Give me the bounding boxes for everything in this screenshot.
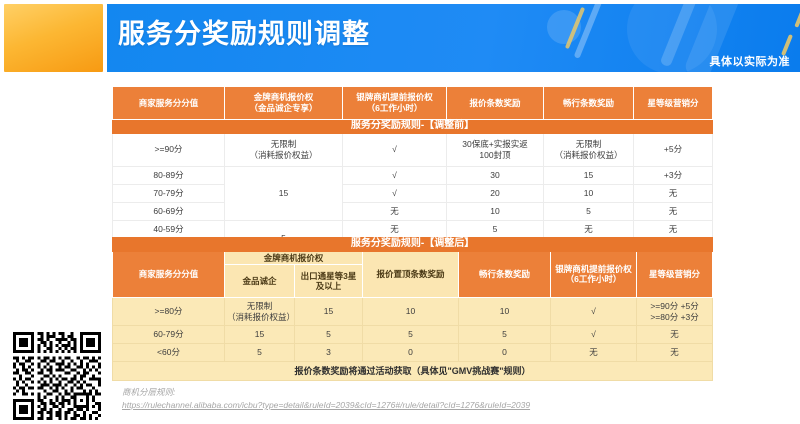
orange-accent-block [4,4,103,72]
cell-flow-bonus: 0 [459,344,551,362]
cell-star: 无 [637,344,713,362]
cell-gold-export-star: 15 [295,298,363,326]
qr-code-icon [13,332,101,420]
cell-quote: 30保底+实报实返 100封顶 [447,133,544,166]
cell-flow: 5 [544,202,634,220]
cell-top-bonus: 0 [363,344,459,362]
cell-score: 80-89分 [113,166,225,184]
col-header-silver-quote-line2: （6工作小时） [345,103,444,114]
cell-flow-bonus: 10 [459,298,551,326]
cell-star-line1: >=90分 +5分 [639,301,710,312]
cell-star: 无 [634,202,713,220]
cell-score: >=90分 [113,133,225,166]
cell-quote: 10 [447,202,544,220]
table-after-footnote-row: 报价条数奖励将通过活动获取（具体见"GMV挑战赛"规则） [113,362,713,381]
cell-silver: 无 [343,220,447,238]
cell-gold-jinpin: 5 [225,344,295,362]
cell-quote-line2: 100封顶 [449,150,541,161]
table-row: >=90分 无限制 （消耗报价权益） √ 30保底+实报实返 100封顶 无限制… [113,133,713,166]
cell-quote: 5 [447,220,544,238]
cell-star: 无 [634,220,713,238]
cell-flow: 无 [544,220,634,238]
col-header-gold-quote-line2: （金品诚企专享） [227,103,340,114]
table-before-header: 商家服务分分值 金牌商机报价权 （金品诚企专享） 银牌商机提前报价权 （6工作小… [113,87,713,120]
cell-quote: 20 [447,184,544,202]
col-header-gold-export-star: 出口通星等3星及以上 [295,265,363,298]
cell-silver: 无 [343,202,447,220]
rule-url-link[interactable]: https://rulechannel.alibaba.com/icbu?typ… [122,399,762,412]
cell-gold-export-star: 3 [295,344,363,362]
decor-slash-thin-icon [574,4,603,59]
cell-silver: √ [551,326,637,344]
table-after-title: 服务分奖励规则-【调整后】 [113,238,713,252]
cell-score: <60分 [113,344,225,362]
table-after-header-row1: 商家服务分分值 金牌商机报价权 报价置顶条数奖励 畅行条数奖励 银牌商机提前报价… [113,251,713,265]
cell-flow-line2: （消耗报价权益） [546,150,631,161]
col-header-gold-group: 金牌商机报价权 [225,251,363,265]
table-after-footnote: 报价条数奖励将通过活动获取（具体见"GMV挑战赛"规则） [113,362,713,381]
cell-quote: 30 [447,166,544,184]
cell-flow-line1: 无限制 [546,139,631,150]
col-header-gold-quote-line1: 金牌商机报价权 [227,92,340,103]
cell-star: 无 [637,326,713,344]
table-row: 40-59分 5 无 5 无 无 [113,220,713,238]
header-banner: 服务分奖励规则调整 具体以实际为准 [0,0,800,74]
cell-star: +3分 [634,166,713,184]
cell-star: 无 [634,184,713,202]
col-header-silver-quote-line1: 银牌商机提前报价权 [345,92,444,103]
table-after-body: >=80分 无限制 （消耗报价权益） 15 10 10 √ >=90分 +5分 … [113,298,713,362]
cell-gold-line1: 无限制 [227,139,340,150]
cell-gold-jinpin-line2: （消耗报价权益） [227,312,292,323]
table-row: 80-89分 15 √ 30 15 +3分 [113,166,713,184]
decor-gold-streak-1-icon [565,7,585,49]
col-header-silver-quote: 银牌商机提前报价权 （6工作小时） [343,87,447,120]
cell-score: 70-79分 [113,184,225,202]
col-header-flow-bonus: 畅行条数奖励 [459,251,551,298]
cell-silver: √ [343,184,447,202]
cell-score: 60-69分 [113,202,225,220]
col-header-silver-quote: 银牌商机提前报价权（6工作小时） [551,251,637,298]
page-title: 服务分奖励规则调整 [118,12,370,51]
cell-silver: √ [551,298,637,326]
footer-label: 商机分层规则: [122,387,175,397]
cell-flow: 无限制 （消耗报价权益） [544,133,634,166]
col-header-score: 商家服务分分值 [113,251,225,298]
decor-circle-small-icon [547,10,581,44]
col-header-top-bonus: 报价置顶条数奖励 [363,251,459,298]
cell-gold-jinpin: 15 [225,326,295,344]
cell-silver: √ [343,133,447,166]
col-header-flow-bonus: 畅行条数奖励 [544,87,634,120]
decor-circle-large-icon [627,4,717,72]
cell-star: +5分 [634,133,713,166]
table-rules-before: 服务分奖励规则-【调整前】 商家服务分分值 金牌商机报价权 （金品诚企专享） 银… [112,86,713,257]
blue-banner: 服务分奖励规则调整 具体以实际为准 [107,4,800,72]
cell-gold-line2: （消耗报价权益） [227,150,340,161]
cell-score: >=80分 [113,298,225,326]
col-header-star-points: 星等级营销分 [634,87,713,120]
cell-quote-line1: 30保底+实报实返 [449,139,541,150]
table-before-title-row: 服务分奖励规则-【调整前】 [113,120,713,134]
table-row: 60-69分 无 10 5 无 [113,202,713,220]
cell-top-bonus: 10 [363,298,459,326]
decor-gold-streak-2-icon [794,4,800,28]
table-row: <60分 5 3 0 0 无 无 [113,344,713,362]
cell-gold: 15 [225,166,343,220]
decor-slash-medium-icon [660,4,698,67]
cell-gold-jinpin: 无限制 （消耗报价权益） [225,298,295,326]
cell-flow-bonus: 5 [459,326,551,344]
cell-star: >=90分 +5分 >=80分 +3分 [637,298,713,326]
table-row: >=80分 无限制 （消耗报价权益） 15 10 10 √ >=90分 +5分 … [113,298,713,326]
col-header-star-points: 星等级营销分 [637,251,713,298]
cell-score: 60-79分 [113,326,225,344]
col-header-gold-quote: 金牌商机报价权 （金品诚企专享） [225,87,343,120]
cell-score: 40-59分 [113,220,225,238]
col-header-score: 商家服务分分值 [113,87,225,120]
table-before-title: 服务分奖励规则-【调整前】 [113,120,713,134]
col-header-gold-jinpin: 金品诚企 [225,265,295,298]
footer-note: 商机分层规则: https://rulechannel.alibaba.com/… [122,386,762,412]
table-row: 60-79分 15 5 5 5 √ 无 [113,326,713,344]
cell-top-bonus: 5 [363,326,459,344]
cell-flow: 15 [544,166,634,184]
cell-silver: √ [343,166,447,184]
cell-gold-jinpin-line1: 无限制 [227,301,292,312]
cell-silver: 无 [551,344,637,362]
cell-star-line2: >=80分 +3分 [639,312,710,323]
cell-gold: 无限制 （消耗报价权益） [225,133,343,166]
table-after-title-row: 服务分奖励规则-【调整后】 [113,238,713,252]
cell-flow: 10 [544,184,634,202]
table-row: 70-79分 √ 20 10 无 [113,184,713,202]
cell-gold-export-star: 5 [295,326,363,344]
col-header-quote-bonus: 报价条数奖励 [447,87,544,120]
table-rules-after: 服务分奖励规则-【调整后】 商家服务分分值 金牌商机报价权 报价置顶条数奖励 畅… [112,237,713,381]
banner-disclaimer: 具体以实际为准 [710,53,791,69]
slide-page: 服务分奖励规则调整 具体以实际为准 服务分奖励规则-【调整前】 商家服务分分值 … [0,0,800,424]
